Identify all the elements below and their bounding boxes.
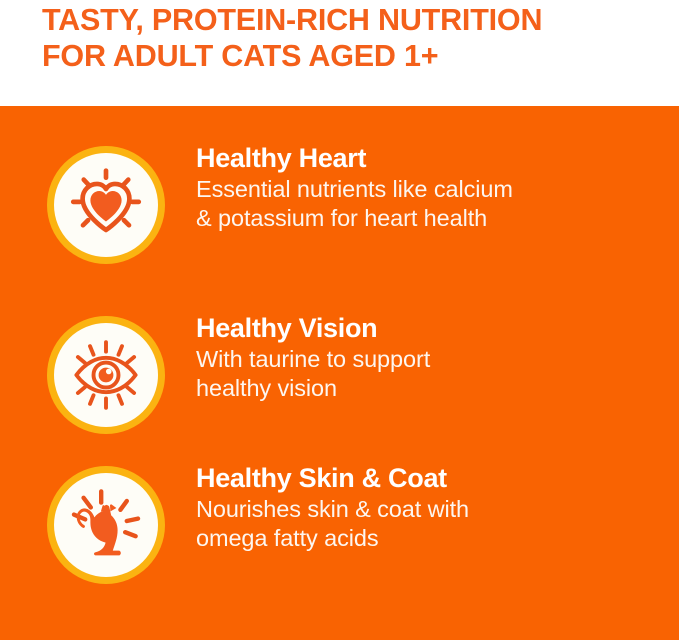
feature-description: Nourishes skin & coat with omega fatty a… <box>196 495 656 553</box>
heart-with-rays-icon <box>67 166 145 244</box>
eye-with-rays-icon <box>67 336 145 414</box>
infographic-page: TASTY, PROTEIN-RICH NUTRITION FOR ADULT … <box>0 0 679 640</box>
badge-inner-circle <box>54 153 158 257</box>
feature-title: Healthy Vision <box>196 312 656 345</box>
feature-row-healthy-heart: Healthy Heart Essential nutrients like c… <box>0 142 679 272</box>
page-title: TASTY, PROTEIN-RICH NUTRITION FOR ADULT … <box>42 2 652 74</box>
features-panel: Healthy Heart Essential nutrients like c… <box>0 106 679 640</box>
feature-title: Healthy Heart <box>196 142 656 175</box>
feature-text-healthy-heart: Healthy Heart Essential nutrients like c… <box>196 142 656 233</box>
feature-text-healthy-vision: Healthy Vision With taurine to support h… <box>196 312 656 403</box>
feature-badge-coat <box>47 466 165 584</box>
badge-inner-circle <box>54 473 158 577</box>
feature-description: Essential nutrients like calcium & potas… <box>196 175 656 233</box>
cat-with-rays-icon <box>66 485 146 565</box>
feature-badge-vision <box>47 316 165 434</box>
feature-badge-heart <box>47 146 165 264</box>
header-band: TASTY, PROTEIN-RICH NUTRITION FOR ADULT … <box>0 0 679 106</box>
badge-inner-circle <box>54 323 158 427</box>
feature-description: With taurine to support healthy vision <box>196 345 656 403</box>
feature-row-healthy-skin-coat: Healthy Skin & Coat Nourishes skin & coa… <box>0 462 679 592</box>
feature-row-healthy-vision: Healthy Vision With taurine to support h… <box>0 312 679 442</box>
feature-title: Healthy Skin & Coat <box>196 462 656 495</box>
feature-text-healthy-skin-coat: Healthy Skin & Coat Nourishes skin & coa… <box>196 462 656 553</box>
